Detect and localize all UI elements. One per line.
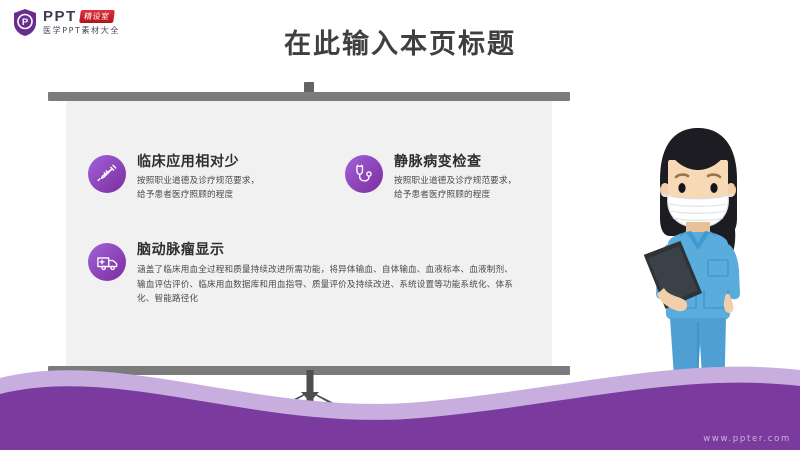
feature-text-3: 脑动脉瘤显示 涵盖了临床用血全过程和质量持续改进所需功能，将异体输血、自体输血、… [137,241,518,307]
feature-body-3: 涵盖了临床用血全过程和质量持续改进所需功能，将异体输血、自体输血、血液标本、血液… [137,263,518,307]
eye-left [678,183,685,193]
slide-canvas: P PPT 精设室 医学PPT素材大全 在此输入本页标题 [0,0,800,450]
feature-block-3: 脑动脉瘤显示 涵盖了临床用血全过程和质量持续改进所需功能，将异体输血、自体输血、… [88,241,518,307]
feature-text-1: 临床应用相对少 按照职业道德及诊疗规范要求， 给予患者医疗照顾的程度 [137,153,259,202]
feature-title-2: 静脉病变检查 [394,154,516,171]
feature-body-1: 按照职业道德及诊疗规范要求， 给予患者医疗照顾的程度 [137,175,259,202]
screen-canvas [66,101,552,366]
syringe-icon [88,155,126,193]
feature-title-1: 临床应用相对少 [137,154,259,171]
nurse-illustration [620,118,795,433]
feature-block-1: 临床应用相对少 按照职业道德及诊疗规范要求， 给予患者医疗照顾的程度 [88,153,318,202]
tripod-legs [210,370,410,440]
feature-title-3: 脑动脉瘤显示 [137,242,518,259]
feature-body-2: 按照职业道德及诊疗规范要求， 给予患者医疗照顾的程度 [394,175,516,202]
screen-top-bar [48,92,570,101]
watermark: www.ppter.com [703,434,791,444]
projector-screen [48,92,570,375]
eye-right [710,183,717,193]
stethoscope-icon [345,155,383,193]
page-title: 在此输入本页标题 [0,22,800,61]
logo-badge: 精设室 [79,10,114,23]
feature-block-2: 静脉病变检查 按照职业道德及诊疗规范要求， 给予患者医疗照顾的程度 [345,153,560,202]
ambulance-icon [88,243,126,281]
feature-text-2: 静脉病变检查 按照职业道德及诊疗规范要求， 给予患者医疗照顾的程度 [394,153,516,202]
